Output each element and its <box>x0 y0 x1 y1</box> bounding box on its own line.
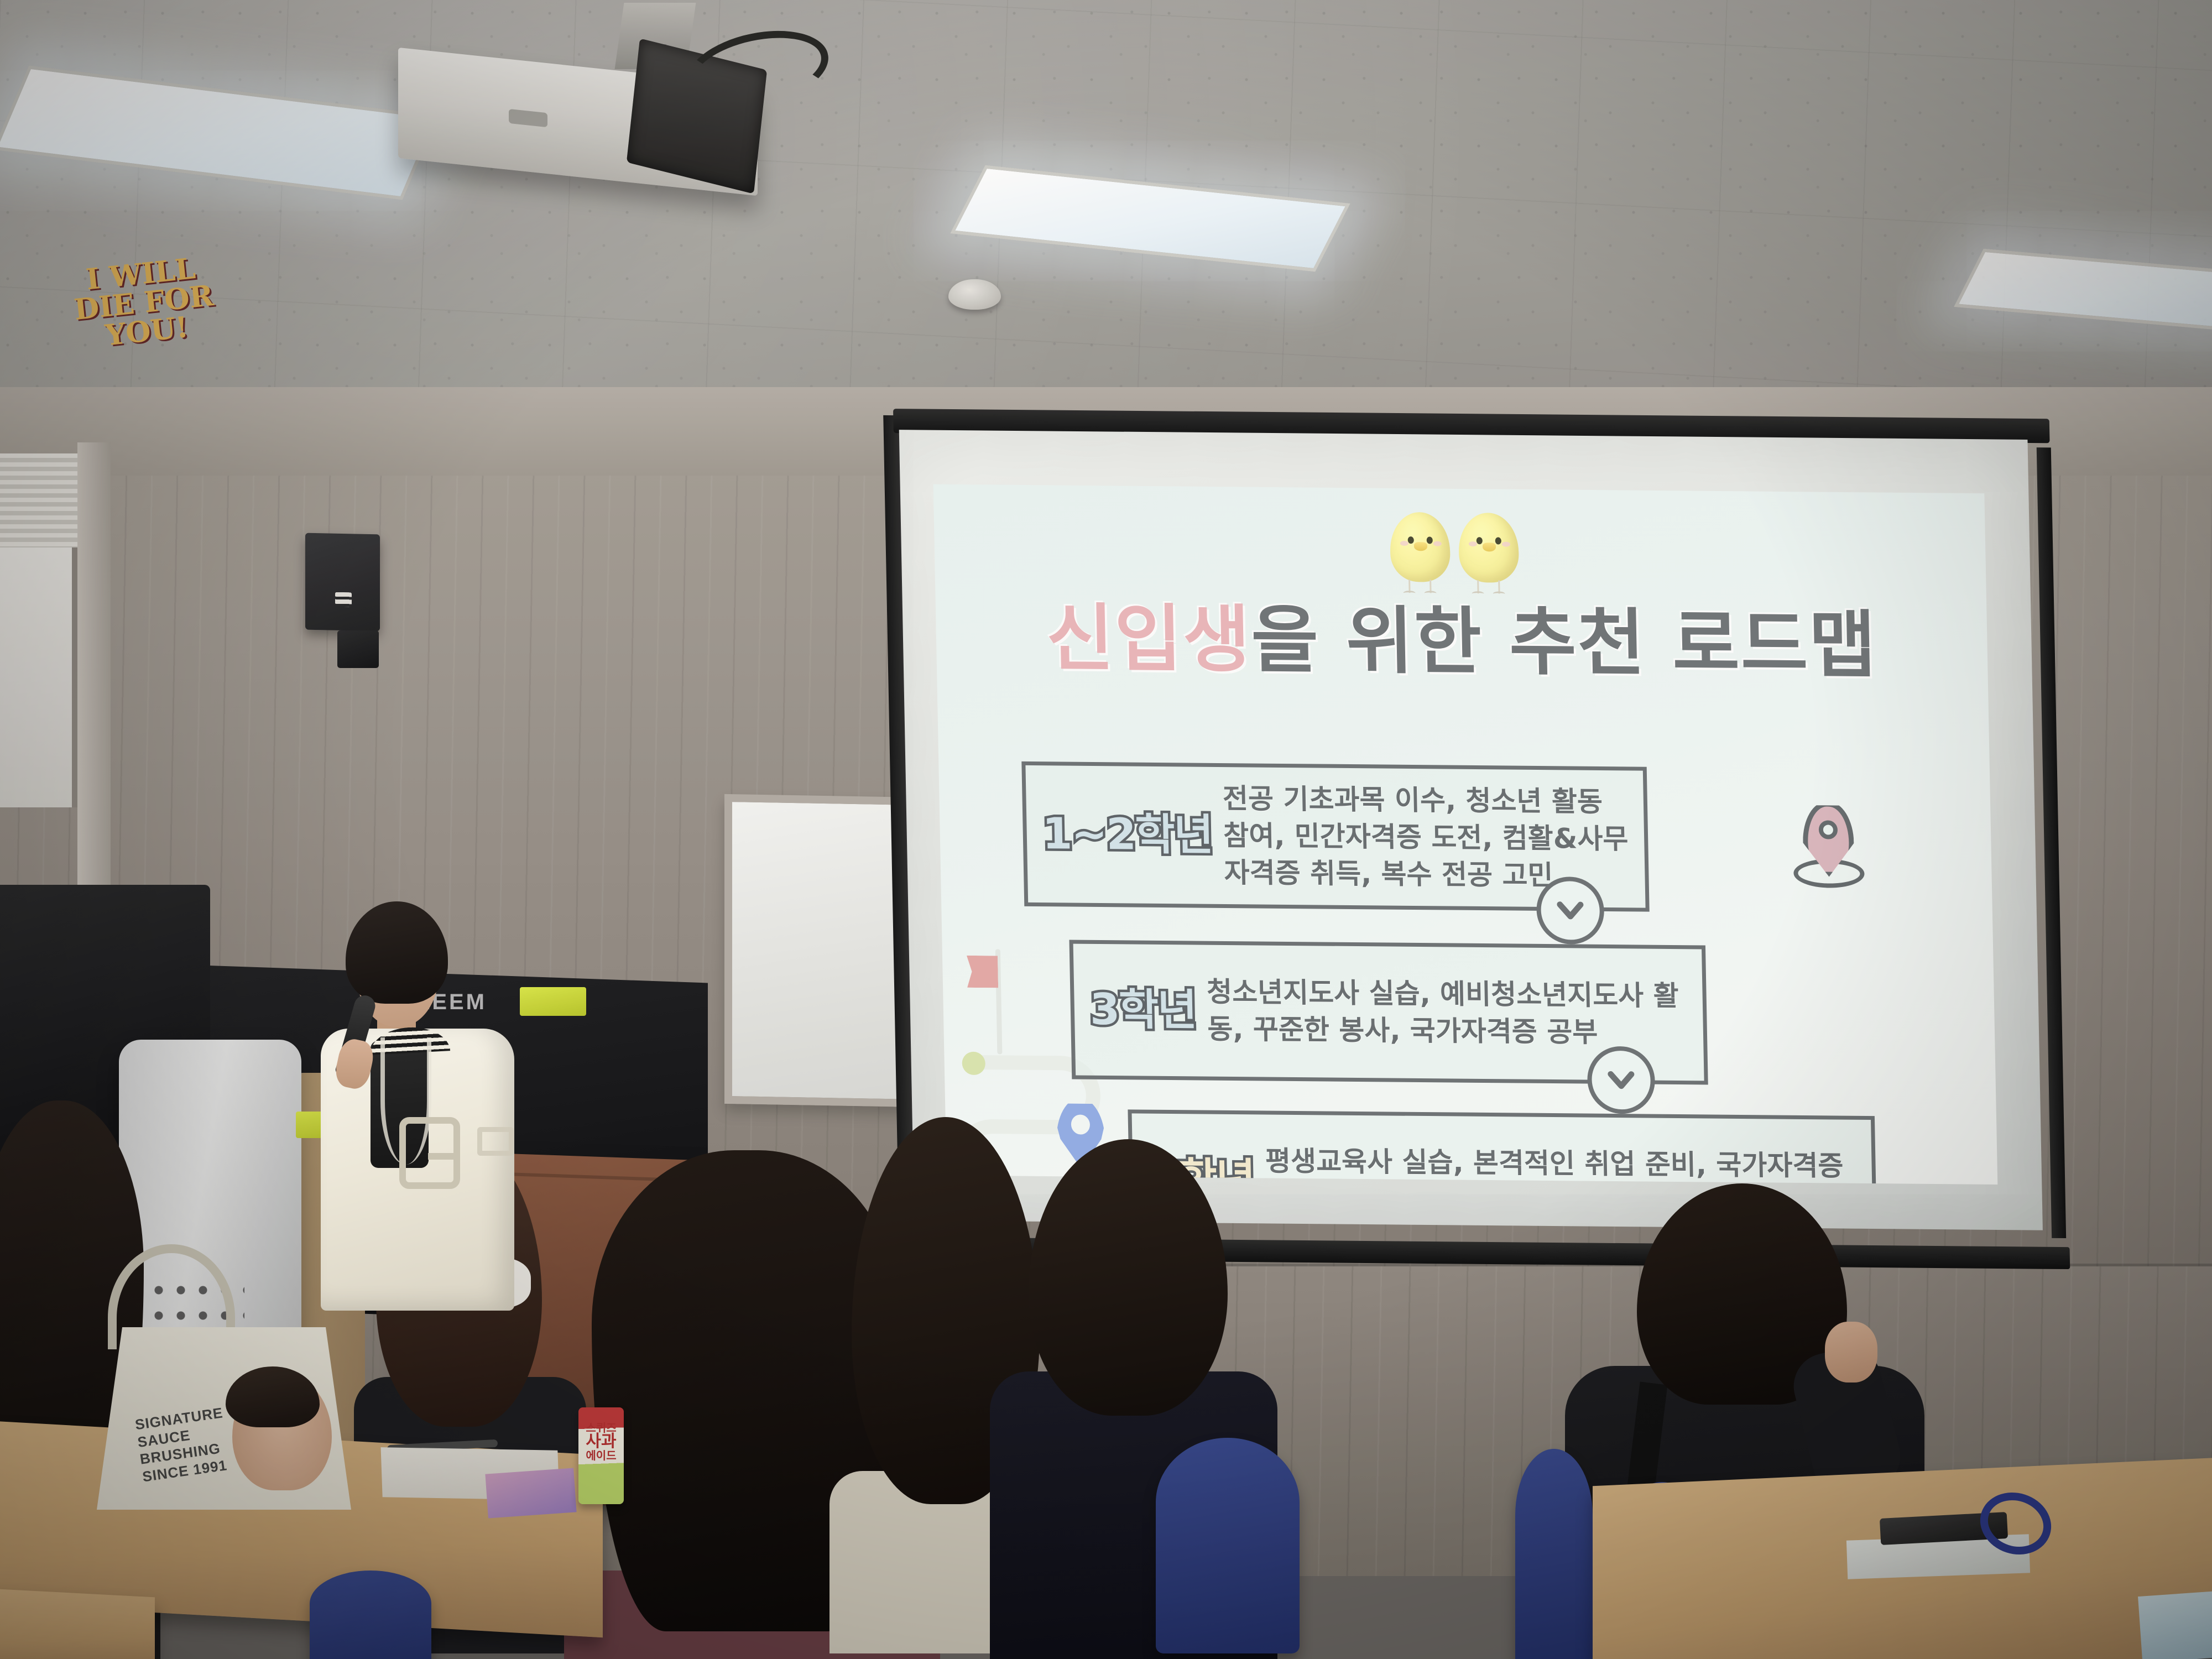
chick-pair-decoration <box>1387 494 1527 597</box>
roadmap-year-badge: 1~2학년 <box>1042 812 1213 857</box>
smoke-detector-icon <box>948 279 1001 310</box>
classroom-chair <box>310 1571 431 1659</box>
wall-speaker <box>305 533 380 632</box>
slide-title: 신입생을 위한 추천 로드맵 <box>935 578 1988 693</box>
screen-surface: 신입생을 위한 추천 로드맵 <box>899 430 2043 1230</box>
window-blind <box>0 453 77 547</box>
classroom-chair <box>1515 1449 1593 1659</box>
map-pin-icon <box>1802 801 1855 877</box>
classroom-chair <box>1156 1438 1300 1653</box>
projected-slide: 신입생을 위한 추천 로드맵 <box>933 484 1998 1185</box>
presenter <box>315 901 536 1311</box>
roadmap-row-text: 평생교육사 실습, 본격적인 취업 준비, 국가자격증 취득 <box>1265 1142 1859 1185</box>
slide-title-rest: 을 위한 추천 로드맵 <box>1250 598 1878 688</box>
roadmap-year-badge: 3학년 <box>1089 988 1196 1032</box>
classroom-desk <box>0 1588 155 1659</box>
drink-can-label: 스퀴즈 사과 에이드 <box>578 1422 624 1461</box>
can-line-2: 사과 <box>578 1433 624 1450</box>
jacket-letter-g <box>399 1117 460 1189</box>
jacket-sleeve-number <box>477 1127 514 1156</box>
pencil-pouch <box>2138 1589 2212 1659</box>
can-line-3: 에이드 <box>578 1450 624 1461</box>
presenter-hair <box>346 901 448 1004</box>
classroom-scene: 신입생을 위한 추천 로드맵 <box>0 0 2212 1659</box>
speaker-bracket <box>337 630 379 668</box>
flag-marker-icon <box>969 949 1038 1082</box>
slide-title-accent: 신입생 <box>1046 596 1252 682</box>
projection-screen: 신입생을 위한 추천 로드맵 <box>899 415 2054 1255</box>
leaflet <box>485 1468 576 1519</box>
roadmap-row-text: 청소년지도사 실습, 예비청소년지도사 활동, 꾸준한 봉사, 국가자격증 공부 <box>1207 974 1691 1052</box>
